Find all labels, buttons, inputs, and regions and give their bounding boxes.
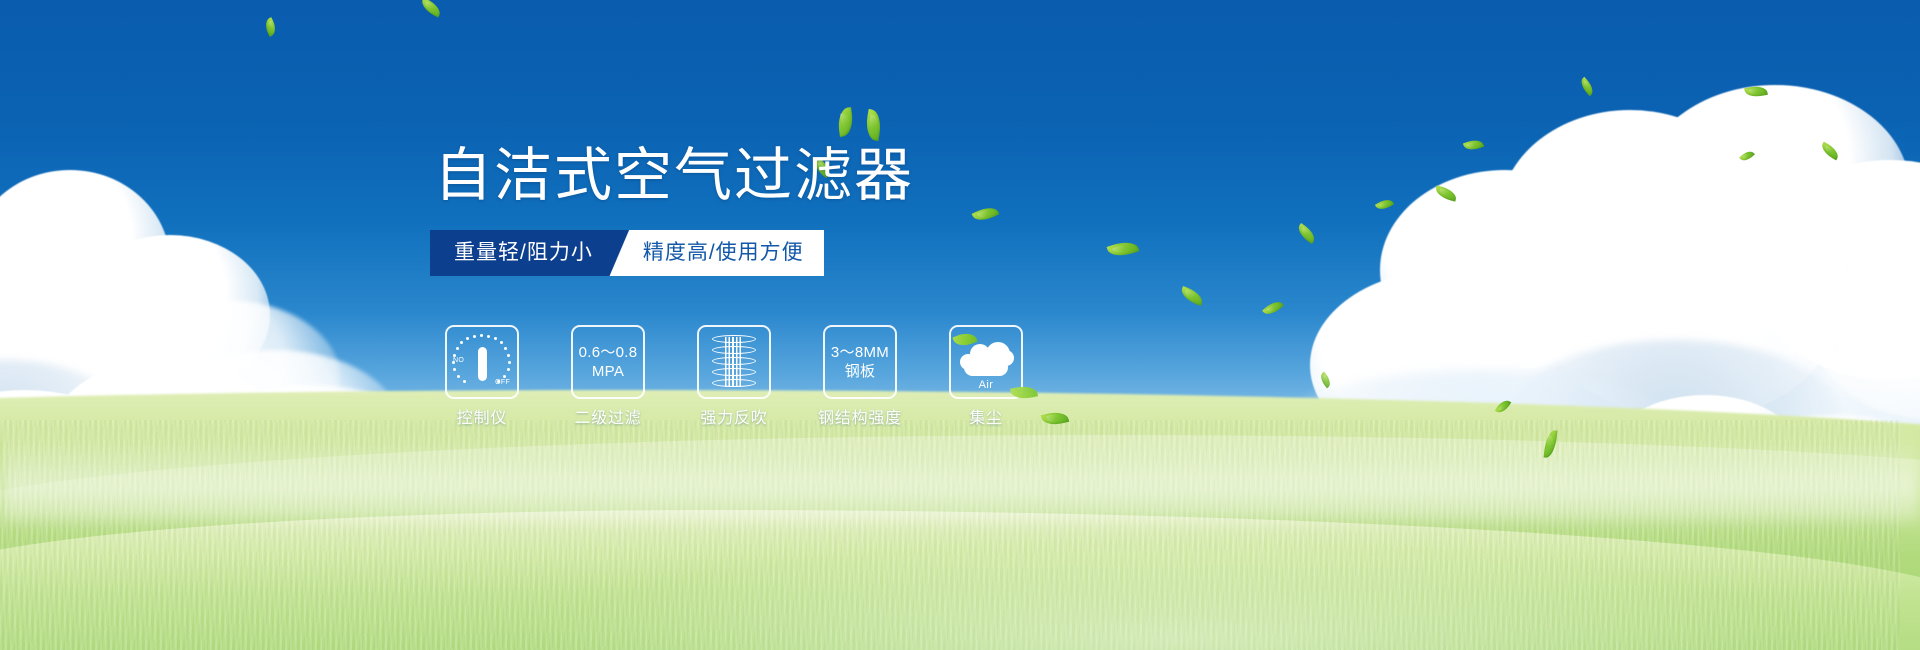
feature-label: 控制仪 xyxy=(432,409,532,429)
gauge-off-label: OFF xyxy=(495,379,510,386)
steel-icon: 3～8MM 钢板 xyxy=(831,343,889,381)
feature-item: 强力反吹 xyxy=(684,325,784,429)
gauge-icon: NO OFF xyxy=(452,334,512,390)
tag-left: 重量轻/阻力小 xyxy=(430,230,615,276)
feature-item: 0.6～0.8 MPA 二级过滤 xyxy=(558,325,658,429)
feature-label: 集尘 xyxy=(936,409,1036,429)
tagline-row: 重量轻/阻力小 精度高/使用方便 xyxy=(430,230,824,276)
gauge-on-label: NO xyxy=(453,357,464,364)
feature-icon-box: Air xyxy=(949,325,1023,399)
feature-icon-box xyxy=(697,325,771,399)
feature-list: NO OFF 控制仪 0.6～0.8 MPA 二级过滤 xyxy=(432,325,1036,429)
feature-item: 3～8MM 钢板 钢结构强度 xyxy=(810,325,910,429)
page-title: 自洁式空气过滤器 xyxy=(434,142,914,210)
feature-icon-box: 0.6～0.8 MPA xyxy=(571,325,645,399)
banner-content: 自洁式空气过滤器 重量轻/阻力小 精度高/使用方便 xyxy=(0,0,1920,650)
feature-label: 二级过滤 xyxy=(558,409,658,429)
gauge-needle xyxy=(478,347,487,381)
feature-item: Air 集尘 xyxy=(936,325,1036,429)
feature-label: 钢结构强度 xyxy=(810,409,910,429)
feature-icon-box: 3～8MM 钢板 xyxy=(823,325,897,399)
feature-icon-box: NO OFF xyxy=(445,325,519,399)
feature-item: NO OFF 控制仪 xyxy=(432,325,532,429)
tag-right: 精度高/使用方便 xyxy=(629,230,824,276)
feature-label: 强力反吹 xyxy=(684,409,784,429)
air-cloud-icon: Air xyxy=(956,336,1016,388)
hero-banner: 自洁式空气过滤器 重量轻/阻力小 精度高/使用方便 xyxy=(0,0,1920,650)
air-label: Air xyxy=(956,379,1016,391)
pressure-icon: 0.6～0.8 MPA xyxy=(579,343,638,381)
coil-icon xyxy=(709,333,759,391)
